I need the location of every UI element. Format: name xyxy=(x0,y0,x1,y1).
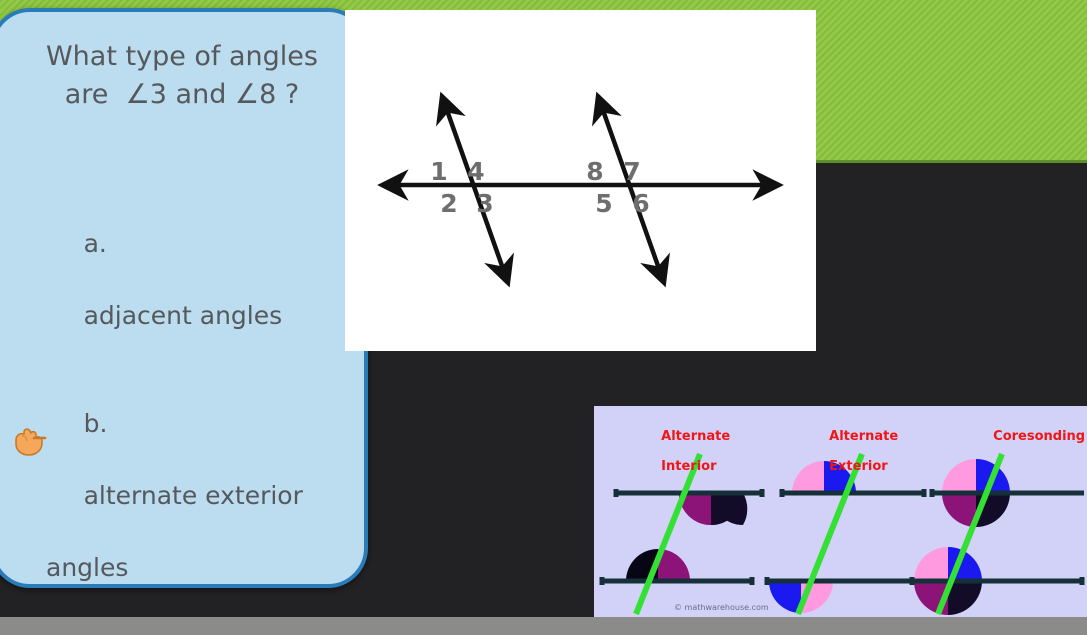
ref-title-0-l2: Interior xyxy=(661,459,716,474)
angle-label-3: 3 xyxy=(476,189,493,218)
reference-title-alternate-interior: Alternate Interior xyxy=(634,414,730,489)
choice-b-letter: b. xyxy=(84,409,108,438)
reference-credit: © mathwarehouse.com xyxy=(674,603,769,612)
ref-title-1-l1: Alternate xyxy=(829,429,898,444)
choice-b-label: alternate exterior xyxy=(84,481,303,510)
reference-title-corresponding: Coresonding xyxy=(966,414,1085,459)
angle-label-8: 8 xyxy=(586,157,603,186)
angle-label-1: 1 xyxy=(430,157,447,186)
angle-label-4: 4 xyxy=(467,157,484,186)
corresponding-figure xyxy=(912,454,1084,615)
choice-b[interactable]: b. alternate exterior angles xyxy=(20,370,360,635)
answer-choices-list: a. adjacent angles b. alternate exterior… xyxy=(20,190,360,635)
angle-types-reference-image: Alternate Interior Alternate Exterior Co… xyxy=(594,406,1087,617)
choice-a-label: adjacent angles xyxy=(84,301,283,330)
question-panel: What type of angles are ∠3 and ∠8 ? a. a… xyxy=(0,8,368,588)
ref-title-1-l2: Exterior xyxy=(829,459,888,474)
choice-a-letter: a. xyxy=(84,229,107,258)
question-line-1: What type of angles xyxy=(12,38,352,76)
transversal-diagram-panel: 1 4 2 3 8 7 5 6 xyxy=(345,10,816,351)
ref-title-0-l1: Alternate xyxy=(661,429,730,444)
angle-label-6: 6 xyxy=(632,189,649,218)
angle-label-2: 2 xyxy=(440,189,457,218)
ref-title-2-l1: Coresonding xyxy=(993,429,1085,444)
angle-label-5: 5 xyxy=(595,189,612,218)
pointing-hand-icon xyxy=(12,424,48,458)
bottom-gray-bar xyxy=(0,617,1087,635)
choice-a[interactable]: a. adjacent angles xyxy=(20,190,360,370)
reference-title-alternate-exterior: Alternate Exterior xyxy=(802,414,898,489)
question-line-2: are ∠3 and ∠8 ? xyxy=(12,76,352,114)
slide-canvas: What type of angles are ∠3 and ∠8 ? a. a… xyxy=(0,0,1087,635)
parallel-lines-diagram: 1 4 2 3 8 7 5 6 xyxy=(345,10,816,351)
choice-b-label-cont: angles xyxy=(20,550,360,586)
angle-label-7: 7 xyxy=(623,157,640,186)
question-prompt: What type of angles are ∠3 and ∠8 ? xyxy=(12,38,352,114)
